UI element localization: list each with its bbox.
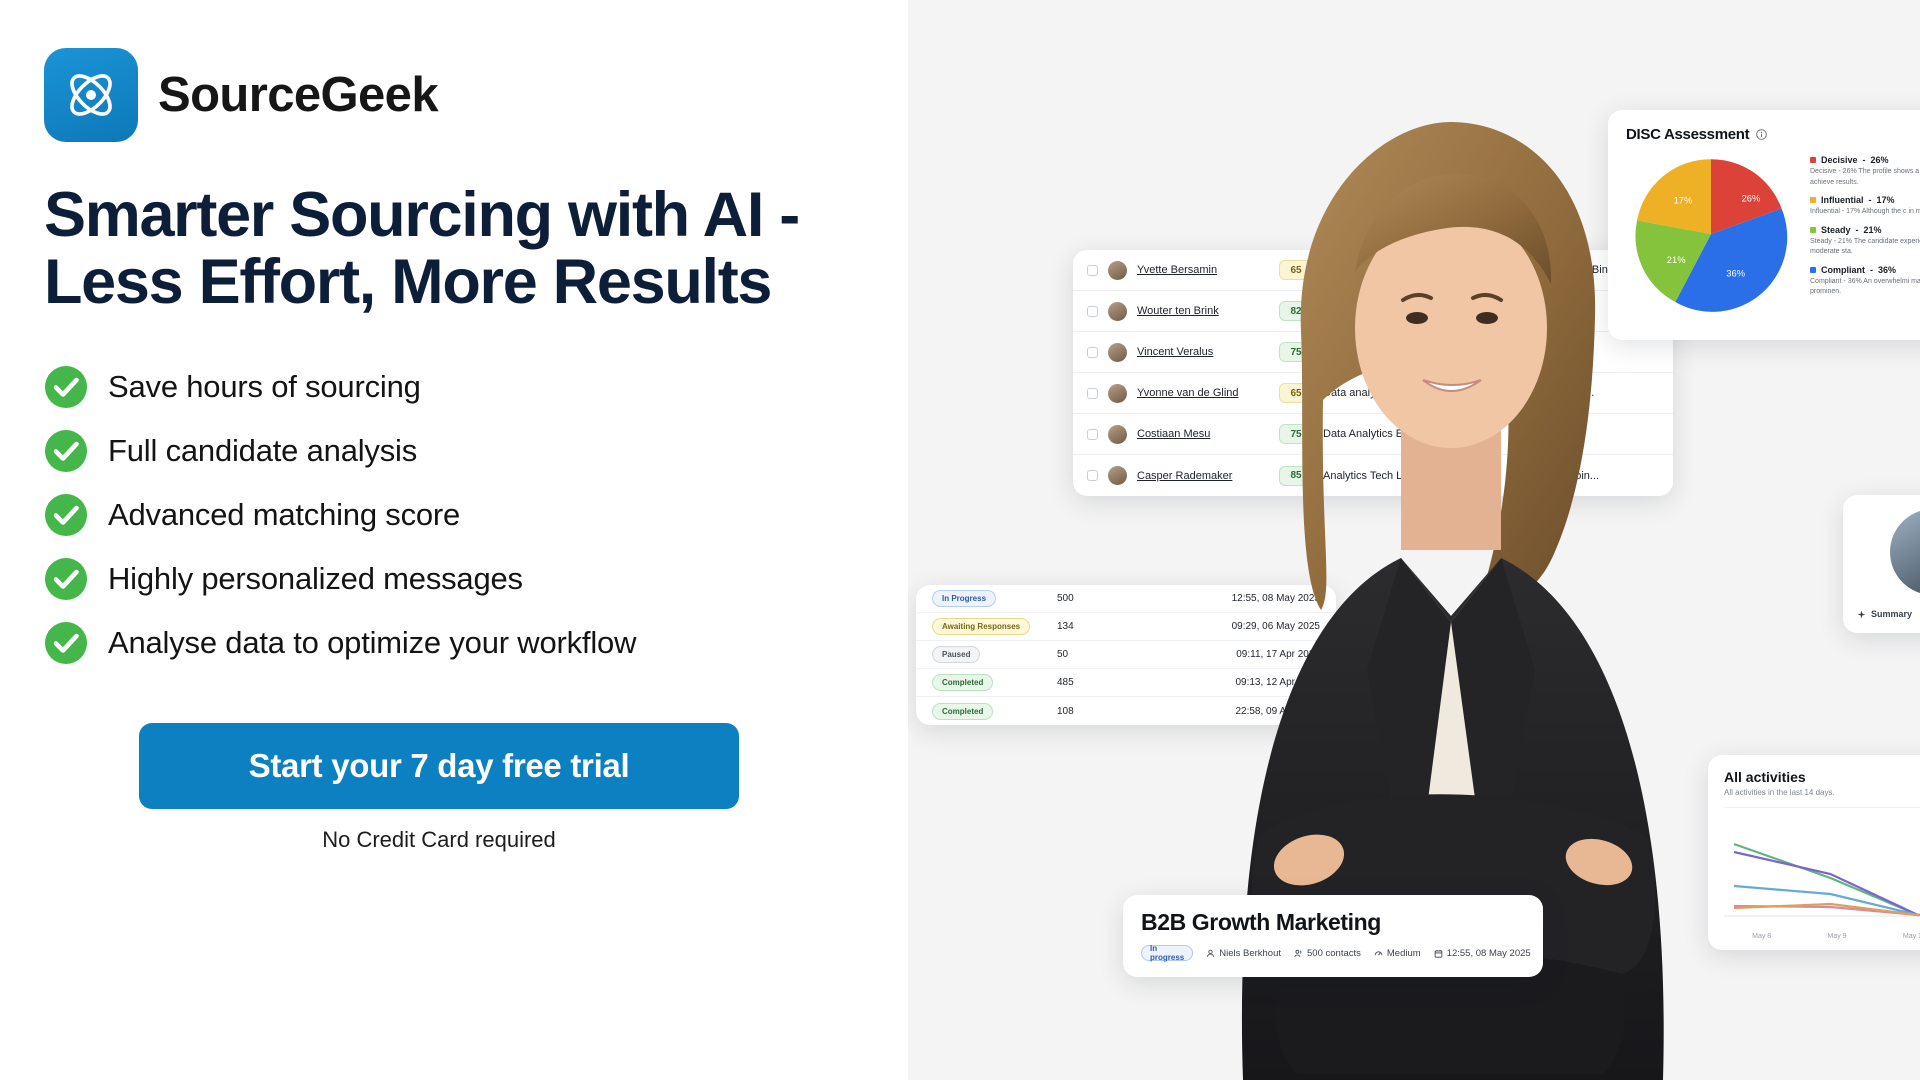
- status-badge: 82: [1279, 301, 1313, 321]
- contact-count: 108: [1057, 706, 1167, 717]
- cta-section: Start your 7 day free trial No Credit Ca…: [139, 723, 739, 853]
- benefit-label: Full candidate analysis: [108, 433, 417, 469]
- cta-note: No Credit Card required: [139, 827, 739, 853]
- timestamp: 09:13, 12 Apr 2025: [1167, 677, 1320, 688]
- svg-text:21%: 21%: [1667, 255, 1686, 265]
- status-badge: 65: [1279, 383, 1313, 403]
- campaign-contacts: 500 contacts: [1294, 948, 1361, 959]
- row-checkbox[interactable]: [1087, 347, 1098, 358]
- candidate-profile-card: Summary: [1843, 495, 1920, 633]
- campaign-date: 12:55, 08 May 2025: [1434, 948, 1531, 959]
- table-row[interactable]: Vincent Veralus 75 Teammanager Data Anal…: [1073, 332, 1673, 373]
- campaign-meta: In progress Niels Berkhout 500 contacts: [1141, 945, 1525, 961]
- product-preview-panel: Yvette Bersamin 65 Adviseur informatiehu…: [908, 0, 1920, 1080]
- timestamp: 12:55, 08 May 2025: [1447, 948, 1531, 959]
- legend-description: Steady - 21% The candidate experience wi…: [1810, 237, 1920, 258]
- info-icon[interactable]: [1756, 129, 1767, 140]
- candidate-title: Analytics Tech Lead: [1323, 470, 1511, 482]
- table-row[interactable]: Awaiting Responses 134 09:29, 06 May 202…: [916, 613, 1336, 641]
- legend-swatch-influential: [1810, 197, 1816, 203]
- legend-item: Decisive - 26% Decisive - 26% The profil…: [1810, 155, 1920, 188]
- legend-label: Compliant: [1821, 265, 1865, 275]
- timestamp: 12:55, 08 May 2025: [1167, 593, 1320, 604]
- benefit-label: Highly personalized messages: [108, 561, 523, 597]
- summary-row: Summary: [1857, 609, 1920, 619]
- check-circle-icon: [44, 557, 88, 601]
- check-circle-icon: [44, 365, 88, 409]
- axis-tick: May 10: [1903, 933, 1920, 940]
- activities-subtitle: All activities in the last 14 days.: [1724, 788, 1920, 797]
- candidate-title: Adviseur informatiehuishoudi...: [1323, 264, 1511, 276]
- campaign-title: B2B Growth Marketing: [1141, 909, 1525, 936]
- timestamp: 09:29, 06 May 2025: [1167, 621, 1320, 632]
- avatar: [1108, 466, 1127, 485]
- row-checkbox[interactable]: [1087, 470, 1098, 481]
- legend-swatch-steady: [1810, 227, 1816, 233]
- benefit-label: Analyse data to optimize your workflow: [108, 625, 636, 661]
- candidate-title: Senior Data Engineer: [1323, 305, 1511, 317]
- axis-tick: May 8: [1752, 933, 1771, 940]
- avatar: [1108, 384, 1127, 403]
- status-badge: 65: [1279, 260, 1313, 280]
- avatar: [1108, 425, 1127, 444]
- start-free-trial-button[interactable]: Start your 7 day free trial: [139, 723, 739, 809]
- user-icon: [1206, 949, 1215, 958]
- avatar: [1108, 302, 1127, 321]
- legend-item: Steady - 21% Steady - 21% The candidate …: [1810, 225, 1920, 258]
- table-row[interactable]: Yvette Bersamin 65 Adviseur informatiehu…: [1073, 250, 1673, 291]
- timestamp: 22:58, 09 Apr 2025: [1167, 706, 1320, 717]
- legend-description: Decisive - 26% The profile shows a drive…: [1810, 167, 1920, 188]
- activities-x-axis: May 8 May 9 May 10 May 11 May 12: [1724, 933, 1920, 940]
- disc-assessment-card: DISC Assessment 26% 36%: [1608, 110, 1920, 340]
- disc-legend: Decisive - 26% Decisive - 26% The profil…: [1810, 149, 1920, 324]
- all-activities-card: All activities All activities in the las…: [1708, 755, 1920, 950]
- legend-value: 21%: [1864, 225, 1882, 235]
- candidate-name[interactable]: Casper Rademaker: [1137, 470, 1269, 482]
- check-circle-icon: [44, 493, 88, 537]
- table-row[interactable]: Completed 108 22:58, 09 Apr 2025: [916, 697, 1336, 725]
- atom-icon: [44, 48, 138, 142]
- list-item: Full candidate analysis: [44, 429, 908, 473]
- legend-label: Steady: [1821, 225, 1851, 235]
- candidate-company: Portbase: [1521, 428, 1659, 440]
- svg-text:26%: 26%: [1742, 194, 1761, 204]
- status-badge: Completed: [932, 674, 993, 691]
- legend-item: Influential - 17% Influential - 17% Alth…: [1810, 195, 1920, 218]
- candidate-name[interactable]: Yvette Bersamin: [1137, 264, 1269, 276]
- candidate-company: Ab Ovo | Goin...: [1521, 470, 1659, 482]
- table-row[interactable]: Yvonne van de Glind 65 Data analyst via …: [1073, 373, 1673, 414]
- list-item: Highly personalized messages: [44, 557, 908, 601]
- sparkle-icon: [1857, 610, 1866, 619]
- legend-value: 17%: [1877, 195, 1895, 205]
- legend-label: Decisive: [1821, 155, 1858, 165]
- page-title: Smarter Sourcing with AI - Less Effort, …: [44, 182, 844, 317]
- users-icon: [1294, 949, 1303, 958]
- contacts-count: 500 contacts: [1307, 948, 1361, 959]
- calendar-icon: [1434, 949, 1443, 958]
- check-circle-icon: [44, 621, 88, 665]
- candidate-title: Data Analytics Engineer: [1323, 428, 1511, 440]
- disc-pie-chart: 26% 36% 21% 17%: [1626, 149, 1796, 324]
- svg-text:36%: 36%: [1726, 269, 1745, 279]
- hero-panel: SourceGeek Smarter Sourcing with AI - Le…: [0, 0, 908, 1080]
- candidate-title: Teammanager Data Analysis: [1323, 346, 1511, 358]
- list-item: Advanced matching score: [44, 493, 908, 537]
- disc-title: DISC Assessment: [1626, 126, 1749, 143]
- candidate-company: Uitvoeringsor...: [1521, 387, 1659, 399]
- legend-swatch-decisive: [1810, 157, 1816, 163]
- candidates-table-card: Yvette Bersamin 65 Adviseur informatiehu…: [1073, 250, 1673, 496]
- status-badge: 85: [1279, 466, 1313, 486]
- campaign-card[interactable]: B2B Growth Marketing In progress Niels B…: [1123, 895, 1543, 977]
- candidate-name[interactable]: Costiaan Mesu: [1137, 428, 1269, 440]
- legend-description: Compliant - 36% An overwhelmi management…: [1810, 277, 1920, 298]
- legend-swatch-compliant: [1810, 267, 1816, 273]
- status-badge: 75: [1279, 424, 1313, 444]
- campaign-priority: Medium: [1374, 948, 1421, 959]
- timestamp: 09:11, 17 Apr 2025: [1167, 649, 1320, 660]
- row-checkbox[interactable]: [1087, 388, 1098, 399]
- activities-title: All activities: [1724, 769, 1920, 785]
- legend-item: Compliant - 36% Compliant - 36% An overw…: [1810, 265, 1920, 298]
- candidate-name[interactable]: Yvonne van de Glind: [1137, 387, 1269, 399]
- axis-tick: May 9: [1828, 933, 1847, 940]
- status-badge: Paused: [932, 646, 980, 663]
- candidate-name[interactable]: Vincent Veralus: [1137, 346, 1269, 358]
- avatar: [1108, 343, 1127, 362]
- status-badge: In Progress: [932, 590, 996, 607]
- legend-label: Influential: [1821, 195, 1864, 205]
- table-row[interactable]: Paused 50 09:11, 17 Apr 2025: [916, 641, 1336, 669]
- table-row[interactable]: Wouter ten Brink 82 Senior Data Engineer…: [1073, 291, 1673, 332]
- legend-value: 26%: [1871, 155, 1889, 165]
- candidate-company: CBR: [1521, 346, 1659, 358]
- table-row[interactable]: Costiaan Mesu 75 Data Analytics Engineer…: [1073, 414, 1673, 455]
- row-checkbox[interactable]: [1087, 265, 1098, 276]
- benefit-label: Save hours of sourcing: [108, 369, 421, 405]
- contact-count: 50: [1057, 649, 1167, 660]
- status-badge: Awaiting Responses: [932, 618, 1030, 635]
- list-item: Analyse data to optimize your workflow: [44, 621, 908, 665]
- benefits-list: Save hours of sourcing Full candidate an…: [44, 365, 908, 665]
- table-row[interactable]: Casper Rademaker 85 Analytics Tech Lead …: [1073, 455, 1673, 496]
- brand-logo[interactable]: SourceGeek: [44, 48, 908, 142]
- gauge-icon: [1374, 949, 1383, 958]
- legend-value: 36%: [1878, 265, 1896, 275]
- candidate-title: Data analyst via Incentro: [1323, 387, 1511, 399]
- candidate-name[interactable]: Wouter ten Brink: [1137, 305, 1269, 317]
- legend-description: Influential - 17% Although the c in mult…: [1810, 207, 1920, 218]
- table-row[interactable]: In Progress 500 12:55, 08 May 2025: [916, 585, 1336, 613]
- list-item: Save hours of sourcing: [44, 365, 908, 409]
- status-badge: In progress: [1141, 945, 1193, 961]
- check-circle-icon: [44, 429, 88, 473]
- contact-count: 500: [1057, 593, 1167, 604]
- brand-name: SourceGeek: [158, 67, 438, 123]
- priority-label: Medium: [1387, 948, 1421, 959]
- summary-label: Summary: [1871, 609, 1912, 619]
- campaign-owner: Niels Berkhout: [1206, 948, 1281, 959]
- contact-count: 485: [1057, 677, 1167, 688]
- activities-line-chart: May 8 May 9 May 10 May 11 May 12: [1724, 807, 1920, 940]
- contact-count: 134: [1057, 621, 1167, 632]
- avatar: [1890, 509, 1920, 595]
- owner-name: Niels Berkhout: [1219, 948, 1281, 959]
- row-checkbox[interactable]: [1087, 429, 1098, 440]
- benefit-label: Advanced matching score: [108, 497, 460, 533]
- row-checkbox[interactable]: [1087, 306, 1098, 317]
- table-row[interactable]: Completed 485 09:13, 12 Apr 2025: [916, 669, 1336, 697]
- campaign-status-table-card: In Progress 500 12:55, 08 May 2025 Await…: [916, 585, 1336, 725]
- svg-text:17%: 17%: [1674, 195, 1693, 205]
- disc-header: DISC Assessment: [1626, 126, 1920, 143]
- avatar: [1108, 261, 1127, 280]
- status-badge: Completed: [932, 703, 993, 720]
- status-badge: 75: [1279, 342, 1313, 362]
